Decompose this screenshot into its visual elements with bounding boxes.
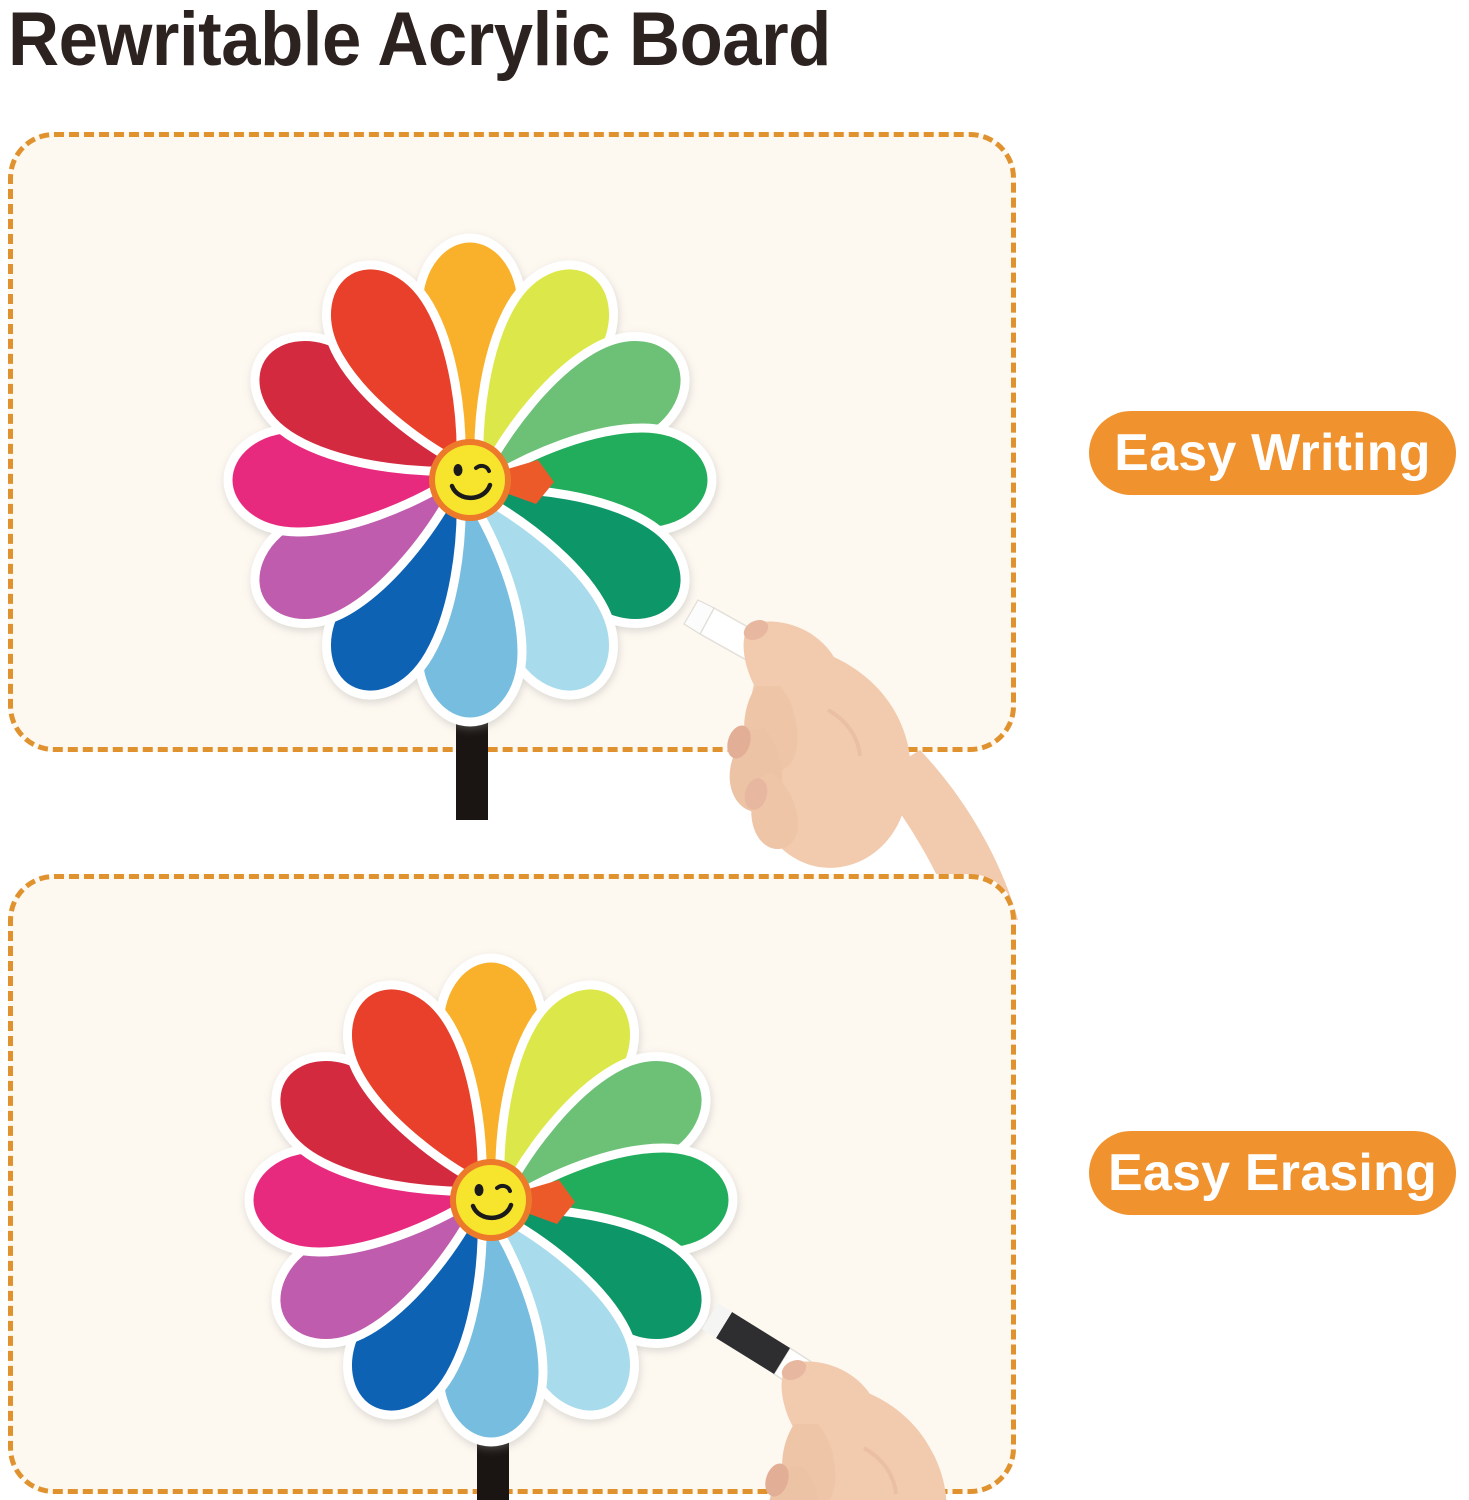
feature-panel-writing xyxy=(8,132,1016,752)
feature-panel-erasing xyxy=(8,874,1016,1494)
badge-easy-erasing: Easy Erasing xyxy=(1089,1131,1456,1215)
infographic-root: Rewritable Acrylic Board xyxy=(0,0,1469,1500)
badge-easy-writing: Easy Writing xyxy=(1089,411,1456,495)
page-title: Rewritable Acrylic Board xyxy=(8,0,831,83)
